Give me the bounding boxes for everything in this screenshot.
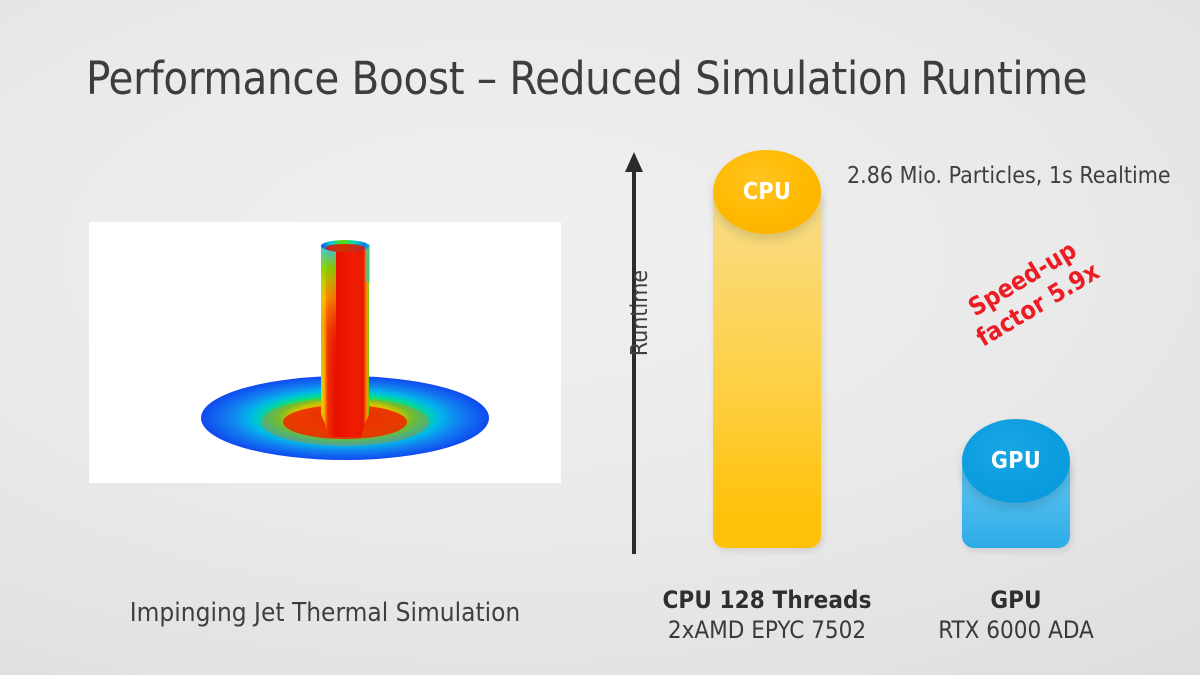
simulation-caption: Impinging Jet Thermal Simulation [89, 598, 561, 628]
speedup-annotation: Speed-up factor 5.9x [951, 228, 1110, 356]
bar-cpu-caption: CPU 128 Threads 2xAMD EPYC 7502 [627, 586, 907, 644]
page-title: Performance Boost – Reduced Simulation R… [86, 52, 1146, 105]
bar-cpu-label: CPU [743, 179, 791, 205]
impinging-jet-simulation-graphic [89, 222, 561, 483]
bar-gpu-caption-primary: GPU [876, 586, 1156, 614]
bar-cpu-caption-secondary: 2xAMD EPYC 7502 [627, 616, 907, 644]
bar-cpu[interactable]: CPU [713, 150, 821, 550]
bar-cpu-caption-primary: CPU 128 Threads [627, 586, 907, 614]
axis-label-runtime: Runtime [627, 233, 653, 393]
bar-gpu[interactable]: GPU [962, 419, 1070, 550]
bar-cpu-cap: CPU [713, 150, 821, 234]
bar-gpu-caption: GPU RTX 6000 ADA [876, 586, 1156, 644]
bar-cpu-body [713, 192, 821, 548]
bar-gpu-label: GPU [991, 448, 1041, 474]
slide-canvas: Performance Boost – Reduced Simulation R… [0, 0, 1200, 675]
bar-gpu-caption-secondary: RTX 6000 ADA [876, 616, 1156, 644]
simulation-image-panel [89, 222, 561, 483]
particles-annotation: 2.86 Mio. Particles, 1s Realtime [847, 163, 1171, 189]
bar-gpu-cap: GPU [962, 419, 1070, 503]
